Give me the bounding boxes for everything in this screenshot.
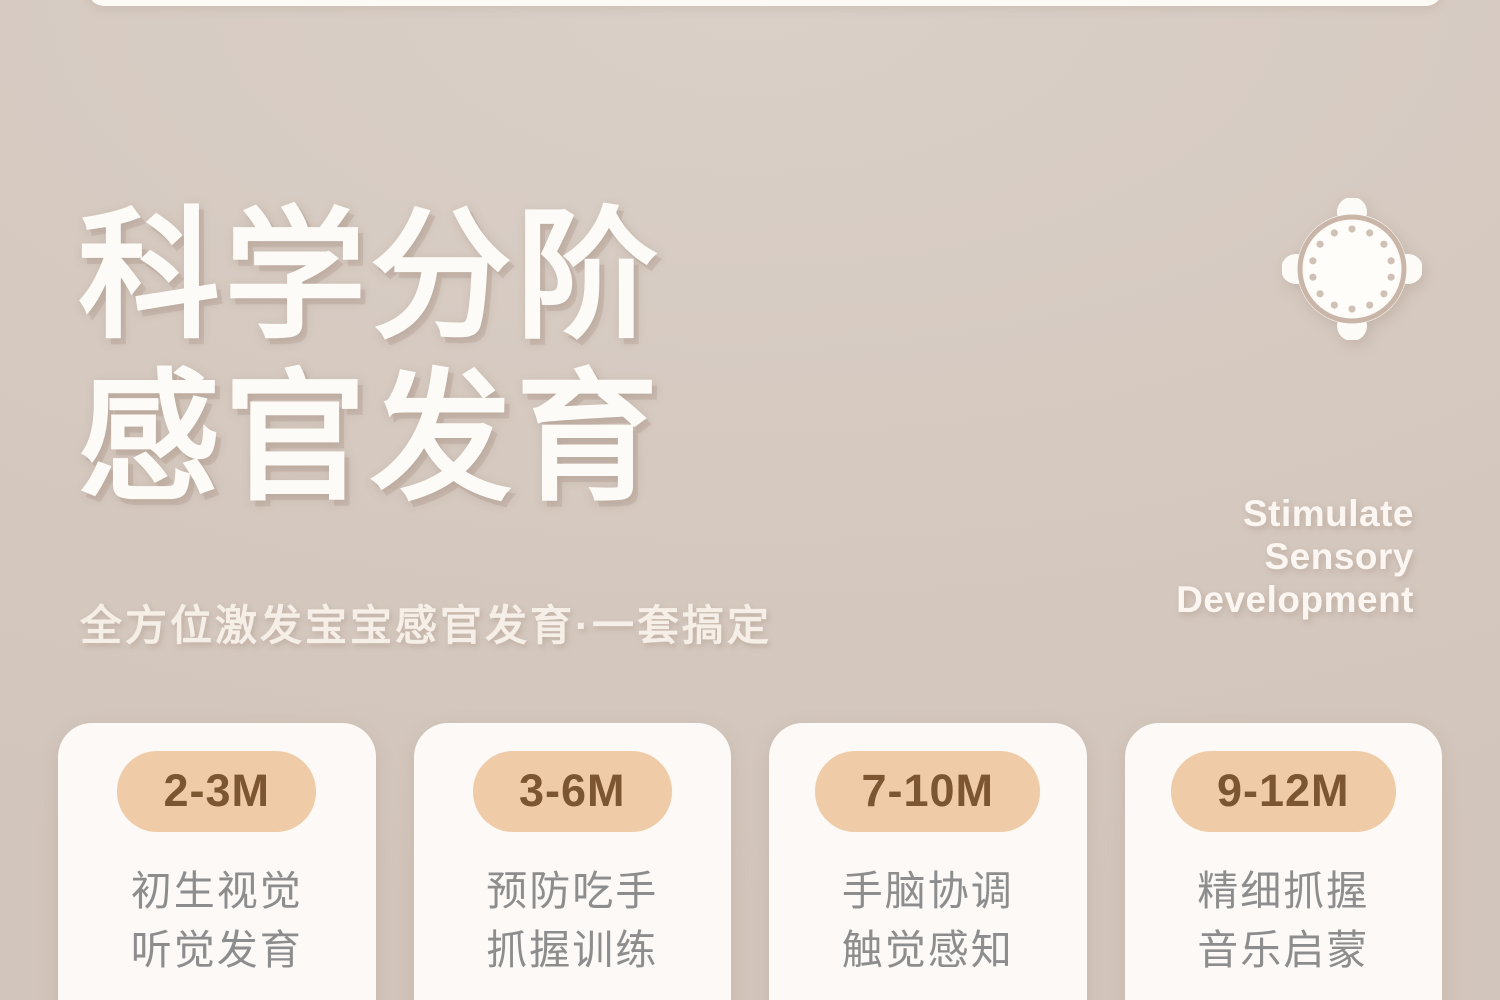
tambourine-icon <box>1282 198 1422 340</box>
english-tagline: Stimulate Sensory Development <box>854 492 1414 621</box>
stage-age-badge: 9-12M <box>1171 751 1396 832</box>
page-title: 科学分阶 感官发育 <box>78 196 798 520</box>
stage-age-badge: 7-10M <box>815 751 1040 832</box>
stage-card-line-2: 音乐启蒙 <box>1197 921 1369 980</box>
stage-card[interactable]: 2-3M 初生视觉 听觉发育 <box>58 723 376 1000</box>
stage-card[interactable]: 3-6M 预防吃手 抓握训练 <box>414 723 732 1000</box>
stage-card-line-2: 触觉感知 <box>842 921 1014 980</box>
stage-card-line-2: 听觉发育 <box>131 921 303 980</box>
stage-card-list: 2-3M 初生视觉 听觉发育 3-6M 预防吃手 抓握训练 7-10M 手脑协调… <box>58 723 1442 1000</box>
stage-card[interactable]: 7-10M 手脑协调 触觉感知 <box>769 723 1087 1000</box>
stage-card-body: 初生视觉 听觉发育 <box>131 862 303 980</box>
stage-card-line-1: 预防吃手 <box>486 862 658 921</box>
stage-card-body: 精细抓握 音乐启蒙 <box>1197 862 1369 980</box>
stage-card-body: 预防吃手 抓握训练 <box>486 862 658 980</box>
poster-canvas: 科学分阶 感官发育 全方位激发宝宝感官发育·一套搞定 Stimulate Sen… <box>0 0 1500 1000</box>
english-tagline-line-3: Development <box>854 578 1414 621</box>
stage-card[interactable]: 9-12M 精细抓握 音乐启蒙 <box>1125 723 1443 1000</box>
stage-age-badge: 3-6M <box>473 751 672 832</box>
stage-card-line-1: 精细抓握 <box>1197 862 1369 921</box>
top-card-edge-sliver <box>88 0 1442 6</box>
stage-age-badge: 2-3M <box>117 751 316 832</box>
stage-card-line-2: 抓握训练 <box>486 921 658 980</box>
stage-card-line-1: 初生视觉 <box>131 862 303 921</box>
page-title-line-1: 科学分阶 <box>78 196 798 358</box>
stage-card-line-1: 手脑协调 <box>842 862 1014 921</box>
english-tagline-line-1: Stimulate <box>854 492 1414 535</box>
page-title-line-2: 感官发育 <box>78 358 798 520</box>
stage-card-body: 手脑协调 触觉感知 <box>842 862 1014 980</box>
english-tagline-line-2: Sensory <box>854 535 1414 578</box>
page-subtitle: 全方位激发宝宝感官发育·一套搞定 <box>80 592 772 653</box>
